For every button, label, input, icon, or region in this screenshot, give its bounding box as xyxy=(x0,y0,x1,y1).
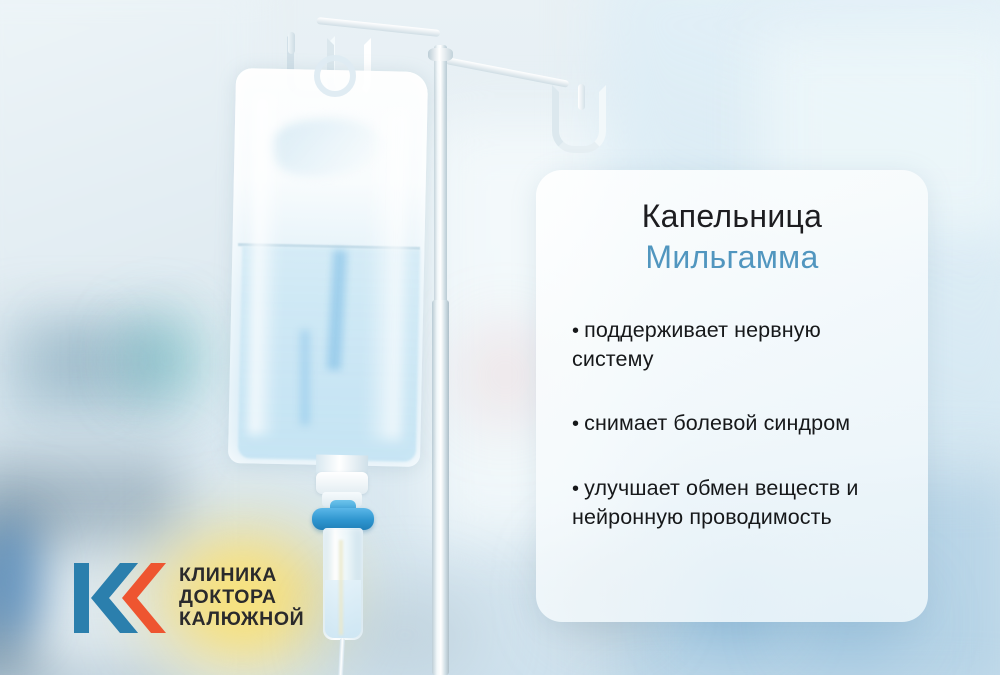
iv-bag-highlight-right xyxy=(367,110,408,441)
iv-stand-pole-lower xyxy=(432,300,449,675)
list-item: •снимает болевой синдром xyxy=(572,409,898,438)
clinic-logo-line-1: КЛИНИКА xyxy=(179,565,304,587)
list-item-label: улучшает обмен веществ и нейронную прово… xyxy=(572,476,858,529)
iv-stand-arm-left xyxy=(316,17,440,37)
iv-spike-collar xyxy=(316,472,368,494)
iv-bag-hanger-hole xyxy=(314,55,356,97)
drip-chamber-blue-cap xyxy=(312,508,374,530)
bullet-marker-icon: • xyxy=(572,478,579,500)
logo-mark-kk-icon xyxy=(74,560,166,636)
info-card: Капельница Мильгамма •поддерживает нервн… xyxy=(536,170,928,622)
list-item-label: снимает болевой синдром xyxy=(584,411,850,435)
list-item: •улучшает обмен веществ и нейронную пров… xyxy=(572,474,898,531)
drip-chamber-inner-tube xyxy=(339,540,343,635)
page-title: Капельница xyxy=(562,198,902,235)
iv-hook-right-tip xyxy=(578,84,585,110)
drip-chamber-fluid xyxy=(325,580,361,638)
clinic-logo-line-3: КАЛЮЖНОЙ xyxy=(179,609,304,631)
product-name: Мильгамма xyxy=(562,239,902,276)
clinic-logo: КЛИНИКА ДОКТОРА КАЛЮЖНОЙ xyxy=(74,560,304,636)
benefits-list: •поддерживает нервную систему •снимает б… xyxy=(562,316,902,531)
clinic-logo-text: КЛИНИКА ДОКТОРА КАЛЮЖНОЙ xyxy=(179,565,304,630)
iv-hook-left-tip xyxy=(288,32,295,54)
advertisement-poster: Капельница Мильгамма •поддерживает нервн… xyxy=(0,0,1000,675)
iv-bag-blue-reflection-2 xyxy=(300,330,310,425)
bullet-marker-icon: • xyxy=(572,320,579,342)
clinic-logo-line-2: ДОКТОРА xyxy=(179,587,304,609)
list-item-label: поддерживает нервную систему xyxy=(572,318,821,371)
list-item: •поддерживает нервную систему xyxy=(572,316,898,373)
bullet-marker-icon: • xyxy=(572,413,579,435)
iv-stand-arm-right xyxy=(445,57,569,88)
iv-stand-collar xyxy=(428,48,453,61)
